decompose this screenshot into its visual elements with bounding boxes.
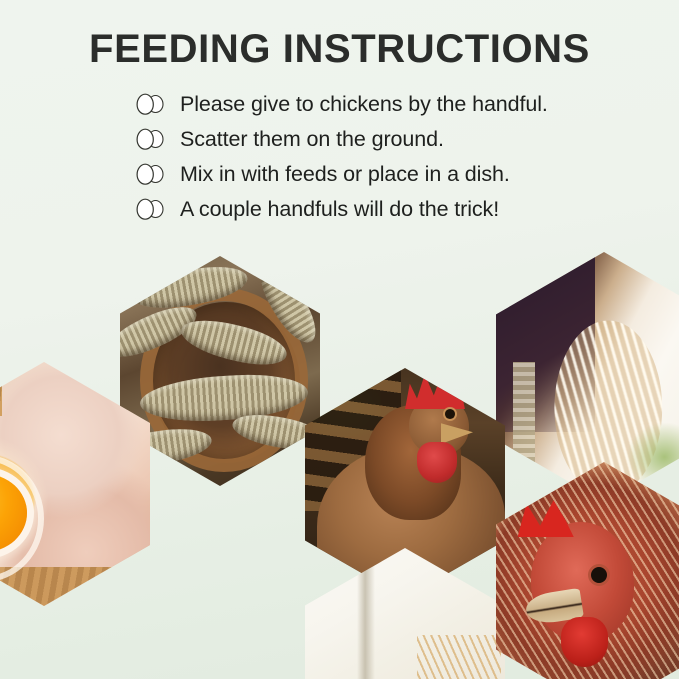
egg-board-bottom (0, 567, 150, 606)
double-egg-icon (131, 124, 171, 154)
list-item-label: Scatter them on the ground. (180, 126, 444, 152)
list-item-label: A couple handfuls will do the trick! (180, 196, 499, 222)
list-item: Scatter them on the ground. (131, 121, 651, 156)
page-title: FEEDING INSTRUCTIONS (0, 26, 679, 72)
list-item-label: Mix in with feeds or place in a dish. (180, 161, 510, 187)
backlit-fence-post (513, 362, 535, 502)
list-item: Please give to chickens by the handful. (131, 86, 651, 121)
hen-closeup-photo (496, 462, 679, 679)
double-egg-icon (131, 159, 171, 189)
double-egg-icon (131, 194, 171, 224)
hen-closeup-hex (496, 462, 679, 679)
instruction-list: Please give to chickens by the handful. … (131, 86, 651, 226)
rooster-eye (445, 409, 455, 419)
list-item-label: Please give to chickens by the handful. (180, 91, 548, 117)
list-item: Mix in with feeds or place in a dish. (131, 156, 651, 191)
header-block: FEEDING INSTRUCTIONS Please give to chic… (0, 0, 679, 240)
double-egg-icon (131, 89, 171, 119)
larvae-photo (120, 256, 320, 486)
hen-wattle (561, 617, 609, 667)
backlit-chicken-hex (496, 252, 679, 502)
bright-yard-hex (305, 548, 505, 679)
rooster-wattle (417, 442, 457, 483)
rooster-comb (405, 370, 465, 409)
larvae-hex (120, 256, 320, 486)
backlit-chicken-photo (496, 252, 679, 502)
egg-board-top (0, 362, 2, 416)
feeding-instructions-graphic: FEEDING INSTRUCTIONS Please give to chic… (0, 0, 679, 679)
list-item: A couple handfuls will do the trick! (131, 191, 651, 226)
bright-yard-photo (305, 548, 505, 679)
bright-yard-straw (417, 635, 501, 679)
